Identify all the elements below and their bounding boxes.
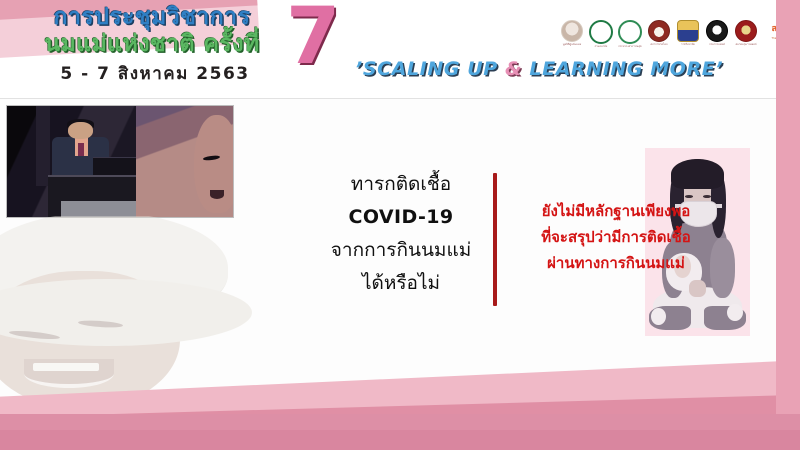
logo-caption: กรมการแพทย์ bbox=[709, 43, 725, 47]
tagline-ampersand: & bbox=[505, 58, 522, 80]
video-baby-inset bbox=[136, 106, 233, 217]
podium-laptop bbox=[93, 157, 140, 176]
speaker-tie bbox=[78, 143, 84, 156]
question-line-1: ทารกติดเชื้อ bbox=[312, 168, 490, 201]
logo-thaihealth-icon: สสสThai Health bbox=[763, 20, 776, 50]
sponsor-logo-strip: มูลนิธิศูนย์นมแม่ กรมอนามัย กระทรวงสาธาร… bbox=[560, 20, 776, 50]
logo-caption: กระทรวงสาธารณสุข bbox=[618, 45, 641, 49]
logo-thai-red-cross-icon: สภากาชาดไทย bbox=[647, 20, 671, 50]
logo-caption: มูลนิธิศูนย์นมแม่ bbox=[563, 43, 581, 47]
slide-header: การประชุมวิชาการ นมแม่แห่งชาติ ครั้งที่ … bbox=[0, 0, 776, 99]
baby-teeth bbox=[33, 363, 99, 371]
logo-black-emblem-icon: กรมการแพทย์ bbox=[705, 20, 729, 50]
answer-line-3: ผ่านทางการกินนมแม่ bbox=[505, 250, 727, 276]
answer-text-block: ยังไม่มีหลักฐานเพียงพอ ที่จะสรุปว่ามีการ… bbox=[505, 198, 727, 276]
logo-caption: ราชวิทยาลัย bbox=[681, 43, 695, 47]
logo-red-emblem-icon: สมาคมกุมารแพทย์ bbox=[734, 20, 758, 50]
mother-foot-right bbox=[727, 304, 743, 321]
logo-royal-college-icon: ราชวิทยาลัย bbox=[676, 20, 700, 50]
conference-title-line-1: การประชุมวิชาการ bbox=[22, 2, 282, 32]
logo-royal-seal-icon: มูลนิธิศูนย์นมแม่ bbox=[560, 20, 584, 50]
logo-caption: กรมอนามัย bbox=[595, 45, 608, 49]
answer-line-1: ยังไม่มีหลักฐานเพียงพอ bbox=[505, 198, 727, 224]
header-divider-rule bbox=[0, 98, 776, 99]
logo-ministry-health-2-icon: กระทรวงสาธารณสุข bbox=[618, 20, 642, 50]
slide-frame-bottom-lower bbox=[0, 430, 800, 450]
vertical-red-divider bbox=[493, 173, 497, 306]
question-line-3: จากการกินนมแม่ bbox=[312, 234, 490, 267]
mother-foot-left bbox=[651, 308, 666, 325]
answer-line-2: ที่จะสรุปว่ามีการติดเชื้อ bbox=[505, 224, 727, 250]
slide-white-page: การประชุมวิชาการ นมแม่แห่งชาติ ครั้งที่ … bbox=[0, 0, 776, 414]
logo-ministry-health-1-icon: กรมอนามัย bbox=[589, 20, 613, 50]
mother-hand bbox=[689, 280, 706, 297]
logo-caption: สภากาชาดไทย bbox=[650, 43, 667, 47]
mother-hair-front bbox=[671, 159, 724, 189]
logo-thaihealth-text: สสส bbox=[764, 20, 776, 36]
question-text-block: ทารกติดเชื้อ COVID-19 จากการกินนมแม่ ได้… bbox=[312, 168, 490, 300]
podium-base bbox=[61, 201, 147, 217]
conference-tagline: ’SCALING UP & LEARNING MORE’ bbox=[355, 58, 776, 80]
speaker-video-thumbnail[interactable] bbox=[6, 105, 234, 218]
question-line-2: COVID-19 bbox=[312, 201, 490, 234]
conference-date-range: 5 - 7 สิงหาคม 2563 bbox=[40, 60, 270, 87]
slide-canvas: การประชุมวิชาการ นมแม่แห่งชาติ ครั้งที่ … bbox=[0, 0, 800, 450]
slide-frame-right bbox=[776, 0, 800, 450]
conference-edition-number: 7 bbox=[286, 0, 340, 82]
question-line-4: ได้หรือไม่ bbox=[312, 267, 490, 300]
logo-caption: สมาคมกุมารแพทย์ bbox=[736, 43, 757, 47]
tagline-part-1: ’SCALING UP bbox=[355, 58, 505, 80]
tagline-part-2: LEARNING MORE’ bbox=[522, 58, 723, 80]
speaker-head bbox=[68, 122, 93, 140]
conference-title-line-2: นมแม่แห่งชาติ ครั้งที่ bbox=[12, 29, 292, 59]
